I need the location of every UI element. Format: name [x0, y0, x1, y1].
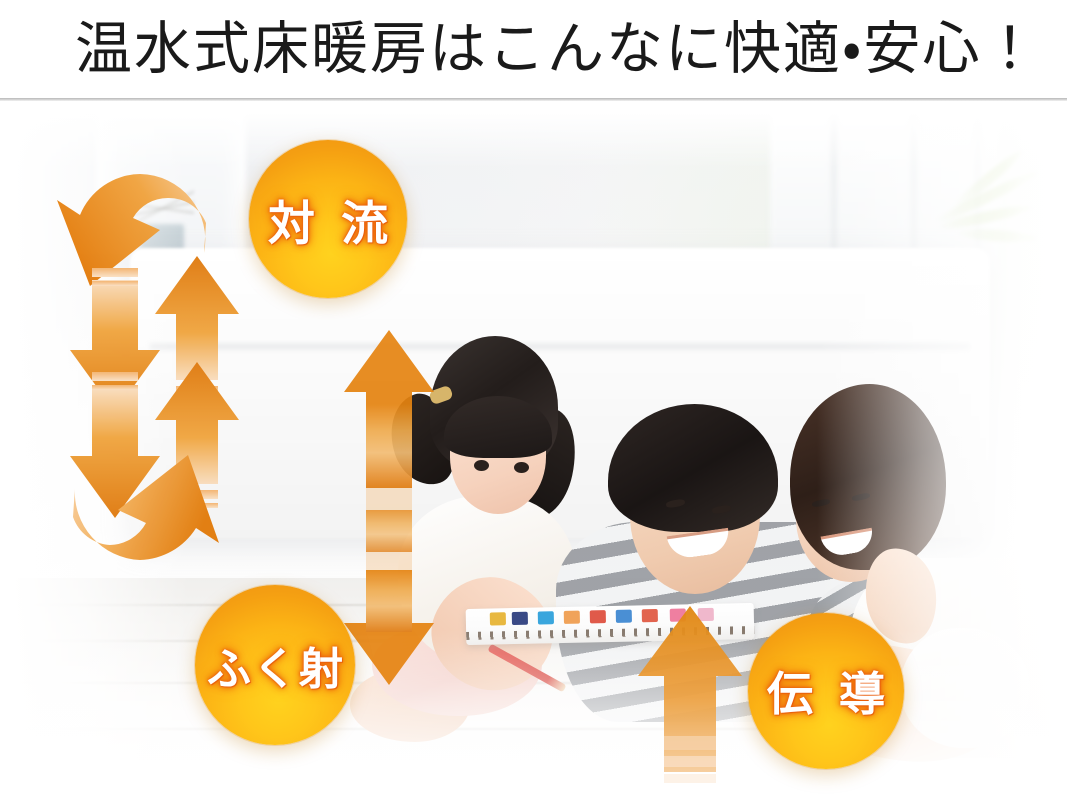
conduction-tick-2 [664, 756, 716, 767]
radiation-shaft-gap-2 [366, 552, 412, 570]
conduction-tick-3 [664, 774, 716, 783]
loop-down-tick-1b [92, 281, 138, 286]
conduction-up-arrow [638, 606, 742, 783]
arrow-graphics [0, 0, 1067, 800]
loop-down-tick-2b [92, 385, 138, 390]
conduction-tick-1 [664, 736, 716, 750]
circulation-loop-arrow [57, 174, 239, 560]
loop-down-tick-1a [92, 268, 138, 277]
radiation-arrow-head-up [344, 330, 434, 412]
badge-conduction[interactable]: 伝 導 [748, 613, 904, 769]
radiation-shaft-3 [366, 570, 412, 632]
badge-convection-label: 対 流 [263, 185, 393, 254]
radiation-double-arrow [344, 330, 434, 685]
badge-radiation-label: ふく射 [205, 633, 345, 697]
radiation-shaft-1 [366, 404, 412, 488]
loop-up-arrow-2 [155, 362, 239, 484]
radiation-shaft-gap-1 [366, 488, 412, 510]
badge-conduction-label: 伝 導 [762, 658, 890, 724]
poster-page: 温水式床暖房はこんなに快適・安心！ [0, 0, 1067, 800]
loop-up-arrow-1 [155, 256, 239, 380]
heat-flow-overlay: 対 流 ふく射 伝 導 [0, 0, 1067, 800]
badge-convection[interactable]: 対 流 [249, 140, 407, 298]
badge-radiation[interactable]: ふく射 [195, 585, 355, 745]
radiation-shaft-2 [366, 510, 412, 552]
loop-down-tick-2a [92, 372, 138, 381]
